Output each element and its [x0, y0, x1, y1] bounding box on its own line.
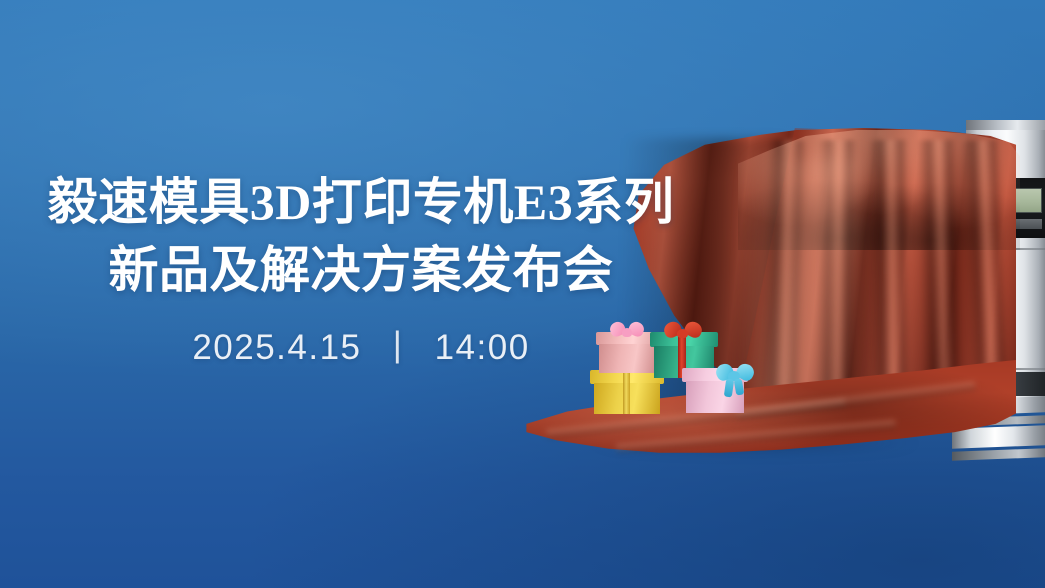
- headline-line-1: 毅速模具3D打印专机E3系列: [0, 168, 712, 236]
- datetime-separator: |: [393, 325, 404, 365]
- gift-box-ribbon: [623, 370, 630, 414]
- light-pink-gift-box: [682, 362, 748, 414]
- poster-text-block: 毅速模具3D打印专机E3系列 新品及解决方案发布会 2025.4.15 | 14…: [0, 168, 712, 368]
- event-date: 2025.4.15: [192, 328, 361, 367]
- event-time: 14:00: [435, 328, 530, 367]
- event-poster: 毅速模具3D打印专机E3系列 新品及解决方案发布会 2025.4.15 | 14…: [0, 0, 1045, 588]
- headline-line-2: 新品及解决方案发布会: [0, 236, 712, 304]
- gift-box-bow: [716, 362, 754, 398]
- event-datetime: 2025.4.15 | 14:00: [0, 328, 712, 368]
